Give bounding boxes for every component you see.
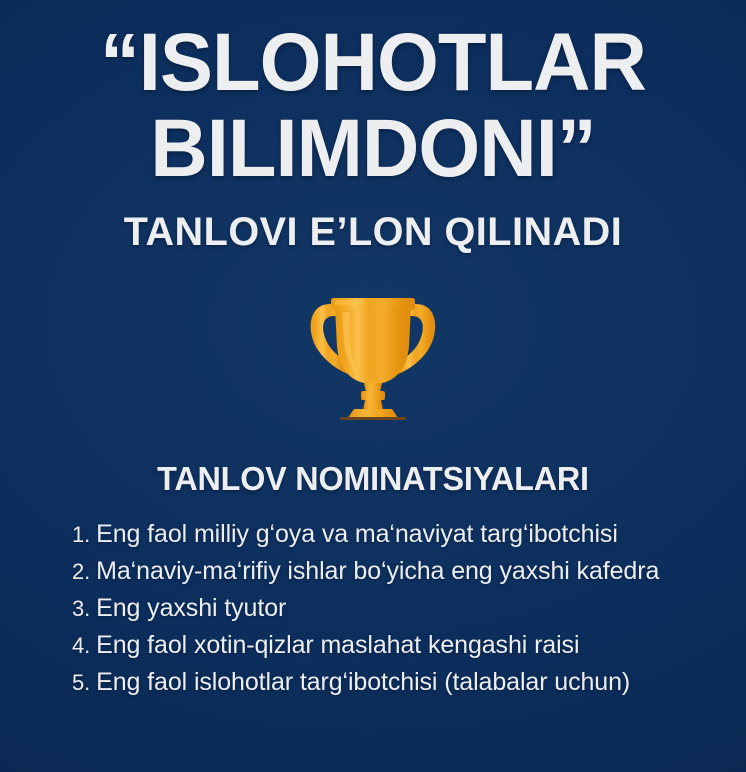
nominations-heading: TANLOV NOMINATSIYALARI <box>7 461 738 497</box>
trophy-illustration <box>0 288 746 420</box>
list-item-label: Eng faol islohotlar targ‘ibotchisi (tala… <box>96 664 630 701</box>
list-item-label: Ma‘naviy-ma‘rifiy ishlar bo‘yicha eng ya… <box>96 553 659 590</box>
list-item-number: 2. <box>72 553 90 590</box>
list-item: 1. Eng faol milliy g‘oya va ma‘naviyat t… <box>0 516 746 553</box>
list-item: 2. Ma‘naviy-ma‘rifiy ishlar bo‘yicha eng… <box>0 553 746 590</box>
title-subtitle: TANLOVI E’LON QILINADI <box>4 210 743 254</box>
list-item-label: Eng faol milliy g‘oya va ma‘naviyat targ… <box>96 516 618 553</box>
list-item: 5. Eng faol islohotlar targ‘ibotchisi (t… <box>0 664 746 701</box>
title-line-2: BILIMDONI” <box>11 108 735 190</box>
list-item-label: Eng yaxshi tyutor <box>96 590 286 627</box>
list-item-number: 3. <box>72 590 90 627</box>
trophy-stem <box>363 400 383 410</box>
trophy-rim-highlight <box>335 300 365 305</box>
list-item: 3. Eng yaxshi tyutor <box>0 590 746 627</box>
title-line-1: “ISLOHOTLAR <box>11 22 735 104</box>
list-item-label: Eng faol xotin-qizlar maslahat kengashi … <box>96 627 579 664</box>
poster-canvas: “ISLOHOTLAR BILIMDONI” TANLOVI E’LON QIL… <box>0 0 746 772</box>
trophy-icon <box>302 288 444 420</box>
list-item: 4. Eng faol xotin-qizlar maslahat kengas… <box>0 627 746 664</box>
trophy-base <box>340 417 406 420</box>
trophy-neck <box>364 383 382 392</box>
title-block: “ISLOHOTLAR BILIMDONI” TANLOVI E’LON QIL… <box>0 22 746 254</box>
trophy-collar <box>361 391 385 400</box>
list-item-number: 1. <box>72 516 90 553</box>
list-item-number: 4. <box>72 627 90 664</box>
nominations-list: 1. Eng faol milliy g‘oya va ma‘naviyat t… <box>0 516 746 701</box>
list-item-number: 5. <box>72 664 90 701</box>
